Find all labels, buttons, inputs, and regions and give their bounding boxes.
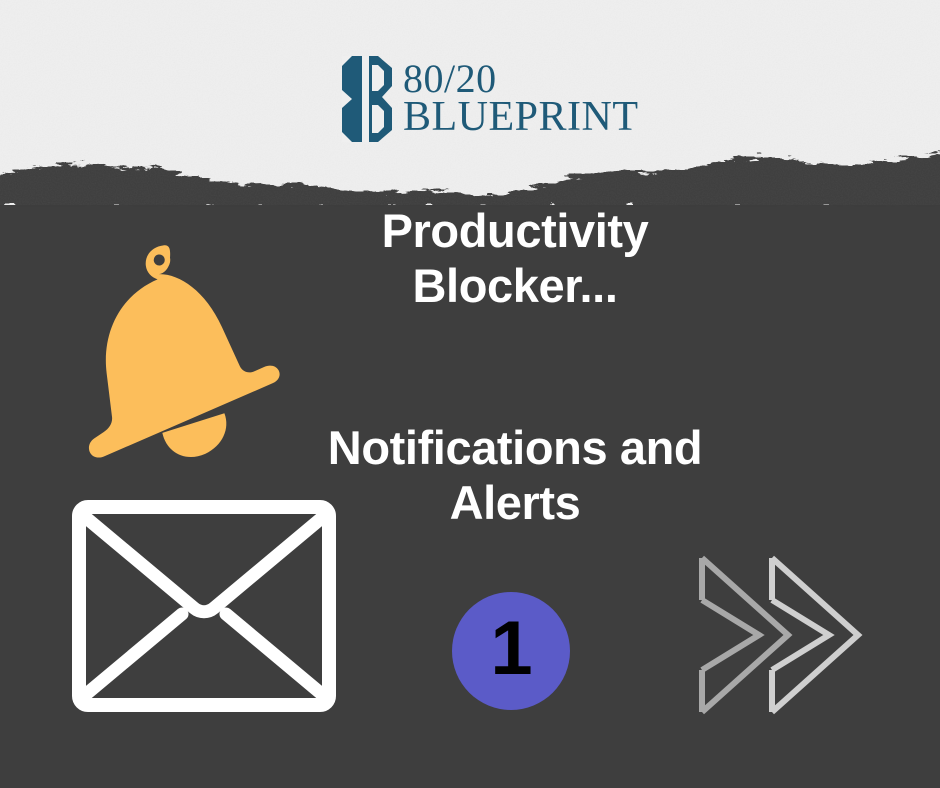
- poster-canvas: 80/20 BLUEPRINT Productivity Blocker... …: [0, 0, 940, 788]
- stylized-b-monogram-icon: [338, 56, 394, 142]
- double-chevron-right-icon[interactable]: [692, 542, 872, 728]
- headline-secondary: Notifications and Alerts: [318, 420, 712, 531]
- logo-text-8020: 80/20: [403, 61, 639, 98]
- brand-logo: 80/20 BLUEPRINT: [338, 56, 639, 142]
- torn-paper-edge: [0, 137, 940, 207]
- notification-badge-count: 1: [490, 611, 531, 687]
- bell-icon: [72, 222, 290, 472]
- headline-primary: Productivity Blocker...: [318, 203, 712, 314]
- notification-badge[interactable]: 1: [452, 592, 570, 710]
- envelope-icon: [70, 498, 338, 714]
- logo-text-blueprint: BLUEPRINT: [403, 98, 639, 137]
